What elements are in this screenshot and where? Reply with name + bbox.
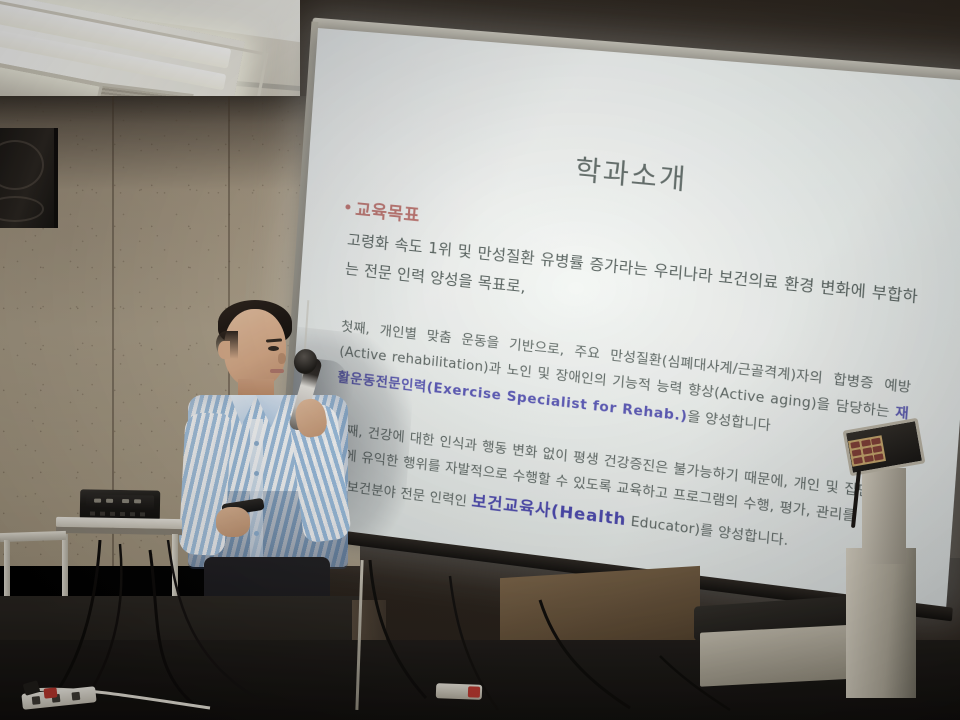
lecture-hall-scene: 학과소개 교육목표 고령화 속도 1위 및 만성질환 유병률 증가라는 우리나라…: [0, 0, 960, 720]
projected-slide: 학과소개 교육목표 고령화 속도 1위 및 만성질환 유병률 증가라는 우리나라…: [284, 28, 960, 609]
paragraph-2-tail: 을 양성합니다: [687, 409, 771, 434]
mixer-led: [94, 499, 101, 503]
mixer-led: [106, 499, 113, 503]
shirt-button: [254, 441, 259, 446]
mixer-led: [134, 499, 141, 503]
bullet-dot-icon: [345, 204, 350, 209]
mixer-led: [122, 499, 129, 503]
outlet-socket: [32, 696, 41, 705]
floor-cables-center: [330, 560, 750, 720]
presenter-eye: [268, 346, 279, 351]
outlet-socket: [72, 692, 81, 701]
speaker-cone-large: [0, 140, 44, 190]
shirt-button: [254, 531, 259, 536]
paragraph-3-tail: Educator)를 양성합니다.: [626, 514, 789, 549]
right-side-desk: [846, 548, 916, 698]
presenter-left-hand: [216, 507, 250, 537]
slide-content: 학과소개 교육목표 고령화 속도 1위 및 만성질환 유병률 증가라는 우리나라…: [284, 28, 960, 609]
presenter-ear: [218, 341, 230, 359]
presenter-mouth: [270, 369, 284, 373]
mixer-control-row[interactable]: [90, 511, 150, 516]
plug-red-center: [468, 686, 480, 697]
presenter-nose: [278, 353, 286, 364]
plug-red: [44, 687, 58, 698]
av-control-kiosk[interactable]: [862, 468, 906, 564]
bullet-heading-label: 교육목표: [355, 195, 421, 226]
power-strip-floor-center: [436, 683, 482, 700]
shirt-button: [254, 471, 259, 476]
wall-speaker: [0, 128, 58, 228]
speaker-cone-small: [0, 196, 44, 222]
audio-mixer[interactable]: [80, 489, 161, 520]
paragraph-3-highlight: 보건교육사(Health: [471, 491, 627, 529]
